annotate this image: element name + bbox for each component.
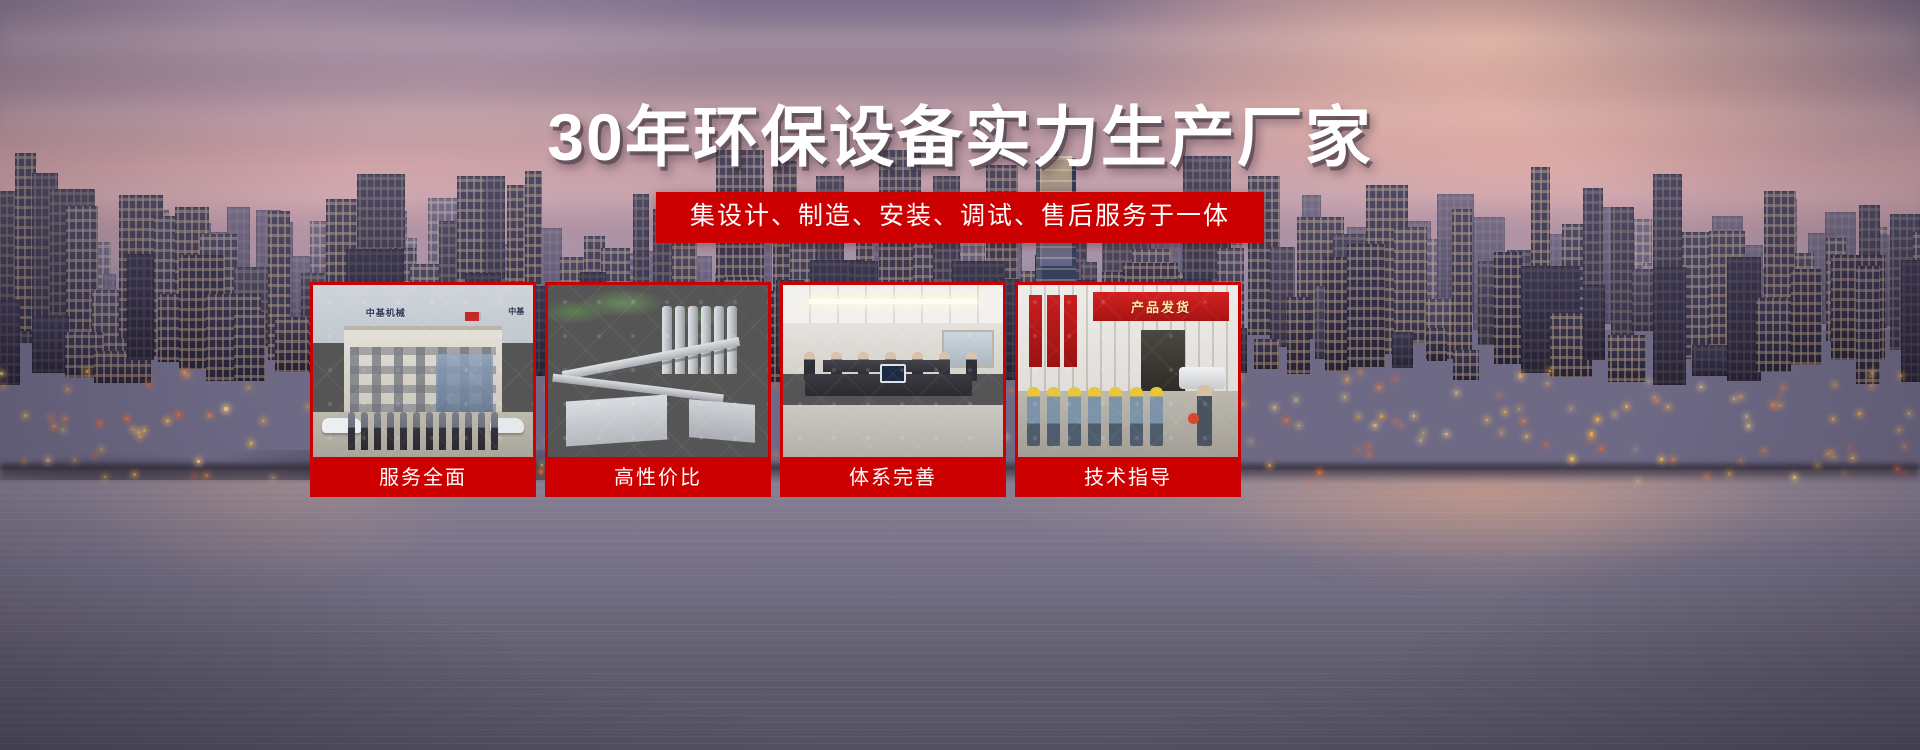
monitor-shape [880,364,906,383]
page-title: 30年环保设备实力生产厂家 [0,104,1920,170]
cloud-band [0,18,1920,64]
building-sign-label: 中基机械 [366,306,406,319]
staff-lineup [348,412,498,450]
worker-lineup [1027,378,1163,447]
flag-icon [465,312,479,321]
subtitle-wrapper: 集设计、制造、安装、调试、售后服务于一体 [0,192,1920,243]
building-sign-secondary: 中基 [508,306,524,317]
feature-card-caption: 体系完善 [783,457,1003,494]
feature-card[interactable]: 体系完善 [780,282,1006,497]
workshop-banner-label: 产品发货 [1093,292,1229,321]
company-headquarters-photo: 中基机械 中基 [313,285,533,457]
supervisor-figure [1197,385,1212,447]
office-interior-photo [783,285,1003,457]
feature-card-caption: 技术指导 [1018,457,1238,494]
subtitle-badge: 集设计、制造、安装、调试、售后服务于一体 [656,192,1264,243]
feature-card-caption: 服务全面 [313,457,533,494]
feature-card[interactable]: 产品发货 技术指导 [1015,282,1241,497]
feature-card[interactable]: 中基机械 中基 服务全面 [310,282,536,497]
production-plant-aerial-photo [548,285,768,457]
hero-banner: 30年环保设备实力生产厂家 集设计、制造、安装、调试、售后服务于一体 中基机械 … [0,0,1920,750]
feature-card-list: 中基机械 中基 服务全面 [310,282,1610,497]
feature-card[interactable]: 高性价比 [545,282,771,497]
workshop-shipping-photo: 产品发货 [1018,285,1238,457]
feature-card-caption: 高性价比 [548,457,768,494]
